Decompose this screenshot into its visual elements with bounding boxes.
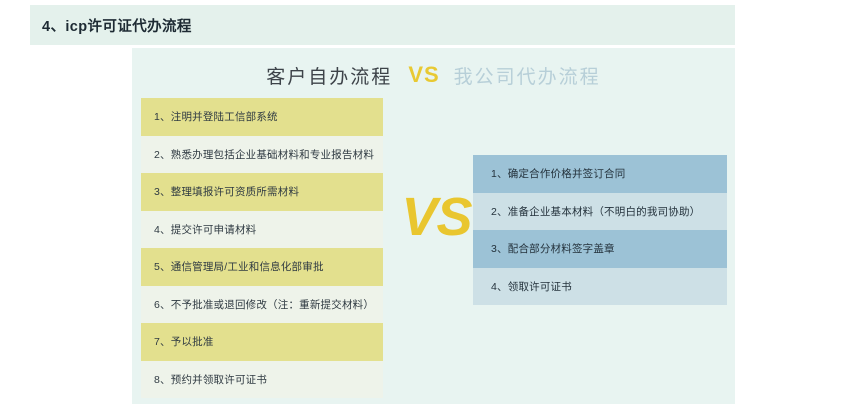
left-step-row: 5、通信管理局/工业和信息化部审批 xyxy=(141,248,383,286)
left-step-label: 6、不予批准或退回修改（注：重新提交材料） xyxy=(154,297,374,312)
heading-vs-label: VS xyxy=(408,62,439,88)
left-step-label: 5、通信管理局/工业和信息化部审批 xyxy=(154,259,324,274)
right-step-row: 3、配合部分材料签字盖章 xyxy=(473,230,727,268)
section-header-bar: 4、icp许可证代办流程 xyxy=(30,5,735,45)
right-step-label: 4、领取许可证书 xyxy=(491,279,572,294)
center-vs-label: VS xyxy=(394,190,479,244)
left-step-row: 4、提交许可申请材料 xyxy=(141,211,383,249)
left-step-row: 2、熟悉办理包括企业基础材料和专业报告材料 xyxy=(141,136,383,174)
heading-label-self-service: 客户自办流程 xyxy=(266,62,392,89)
right-step-label: 1、确定合作价格并签订合同 xyxy=(491,166,625,181)
right-step-label: 3、配合部分材料签字盖章 xyxy=(491,241,615,256)
left-step-label: 7、予以批准 xyxy=(154,334,214,349)
heading-label-agency-service: 我公司代办流程 xyxy=(454,62,601,89)
left-step-label: 1、注明并登陆工信部系统 xyxy=(154,109,278,124)
left-step-label: 4、提交许可申请材料 xyxy=(154,222,256,237)
right-step-row: 2、准备企业基本材料（不明白的我司协助） xyxy=(473,193,727,231)
diagram-heading: 客户自办流程 VS 我公司代办流程 xyxy=(132,58,735,92)
left-step-row: 6、不予批准或退回修改（注：重新提交材料） xyxy=(141,286,383,324)
left-step-row: 3、整理填报许可资质所需材料 xyxy=(141,173,383,211)
right-step-label: 2、准备企业基本材料（不明白的我司协助） xyxy=(491,204,700,219)
process-comparison-diagram: 客户自办流程 VS 我公司代办流程 1、注明并登陆工信部系统 2、熟悉办理包括企… xyxy=(132,48,735,404)
page-title: 4、icp许可证代办流程 xyxy=(42,15,192,36)
left-step-row: 8、预约并领取许可证书 xyxy=(141,361,383,399)
left-step-row: 1、注明并登陆工信部系统 xyxy=(141,98,383,136)
right-step-row: 4、领取许可证书 xyxy=(473,268,727,306)
right-step-row: 1、确定合作价格并签订合同 xyxy=(473,155,727,193)
left-step-label: 2、熟悉办理包括企业基础材料和专业报告材料 xyxy=(154,147,374,162)
left-step-row: 7、予以批准 xyxy=(141,323,383,361)
left-step-label: 8、预约并领取许可证书 xyxy=(154,372,267,387)
left-step-label: 3、整理填报许可资质所需材料 xyxy=(154,184,299,199)
right-process-column: 1、确定合作价格并签订合同 2、准备企业基本材料（不明白的我司协助） 3、配合部… xyxy=(473,155,727,305)
left-process-column: 1、注明并登陆工信部系统 2、熟悉办理包括企业基础材料和专业报告材料 3、整理填… xyxy=(141,98,383,398)
